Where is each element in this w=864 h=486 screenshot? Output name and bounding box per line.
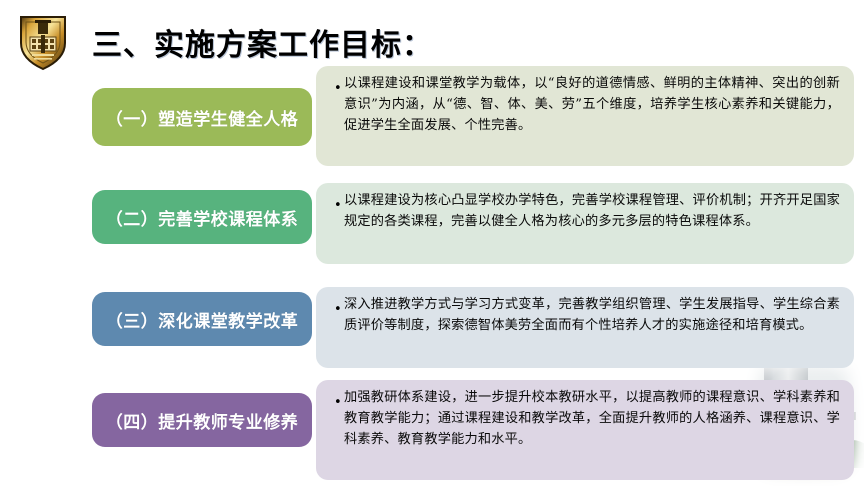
bullet-icon: • [334,199,344,212]
slide-title: 三、实施方案工作目标： [92,20,433,64]
goal-label-text-1: （一）塑造学生健全人格 [106,105,299,130]
goal-description-panel-4: • 加强教研体系建设，进一步提升校本教研水平，以提高教师的课程意识、学科素养和教… [316,380,854,480]
bullet-icon: • [334,303,344,316]
bullet-icon: • [334,396,344,409]
goal-description-panel-2: • 以课程建设为核心凸显学校办学特色，完善学校课程管理、评价机制；开齐开足国家规… [316,183,854,264]
goal-label-text-4: （四）提升教师专业修养 [106,408,299,433]
goal-label-1[interactable]: （一）塑造学生健全人格 [92,88,312,146]
goal-description-text-3: 深入推进教学方式与学习方式变革，完善教学组织管理、学生发展指导、学生综合素质评价… [344,295,840,337]
goal-description-text-1: 以课程建设和课堂教学为载体，以“良好的道德情感、鲜明的主体精神、突出的创新意识”… [344,74,840,137]
presentation-slide: 三、实施方案工作目标： • 以课程建设和课堂教学为载体，以“良好的道德情感、鲜明… [0,0,864,486]
goal-label-3[interactable]: （三）深化课堂教学改革 [92,292,312,346]
goal-label-4[interactable]: （四）提升教师专业修养 [92,393,312,447]
goal-label-text-2: （二）完善学校课程体系 [106,205,299,230]
goal-label-text-3: （三）深化课堂教学改革 [106,307,299,332]
bullet-icon: • [334,82,344,95]
goal-label-2[interactable]: （二）完善学校课程体系 [92,190,312,244]
goal-description-panel-3: • 深入推进教学方式与学习方式变革，完善教学组织管理、学生发展指导、学生综合素质… [316,287,854,368]
goal-description-panel-1: • 以课程建设和课堂教学为载体，以“良好的道德情感、鲜明的主体精神、突出的创新意… [316,66,854,166]
goal-description-text-2: 以课程建设为核心凸显学校办学特色，完善学校课程管理、评价机制；开齐开足国家规定的… [344,191,840,233]
goal-description-text-4: 加强教研体系建设，进一步提升校本教研水平，以提高教师的课程意识、学科素养和教育教… [344,388,840,451]
school-crest-icon [13,13,73,71]
